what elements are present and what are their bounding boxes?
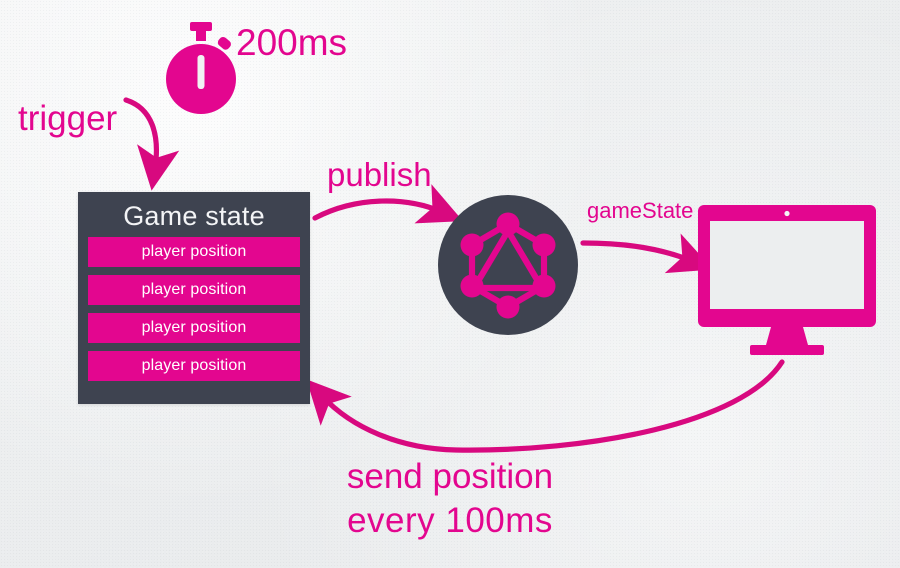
graphql-logo-icon (438, 195, 578, 335)
stopwatch-icon (166, 22, 236, 114)
return-label-line1: send position (0, 457, 900, 496)
player-position-row: player position (88, 351, 300, 381)
return-label-line2: every 100ms (0, 501, 900, 540)
game-state-title: Game state (88, 198, 300, 234)
return-arrow (322, 362, 782, 450)
desktop-monitor-icon (698, 205, 876, 355)
trigger-label: trigger (18, 99, 117, 138)
trigger-arrow (126, 100, 156, 168)
gamestate-label: gameState (587, 199, 693, 224)
player-position-row: player position (88, 313, 300, 343)
diagram-canvas: Game state player position player positi… (0, 0, 900, 568)
game-state-panel: Game state player position player positi… (78, 192, 310, 404)
return-arrow-label: send position every 100ms (0, 457, 900, 540)
player-position-row: player position (88, 275, 300, 305)
publish-arrow (315, 201, 442, 218)
gamestate-arrow (583, 243, 692, 261)
player-position-row: player position (88, 237, 300, 267)
timer-duration-label: 200ms (236, 22, 347, 63)
publish-label: publish (327, 157, 432, 194)
